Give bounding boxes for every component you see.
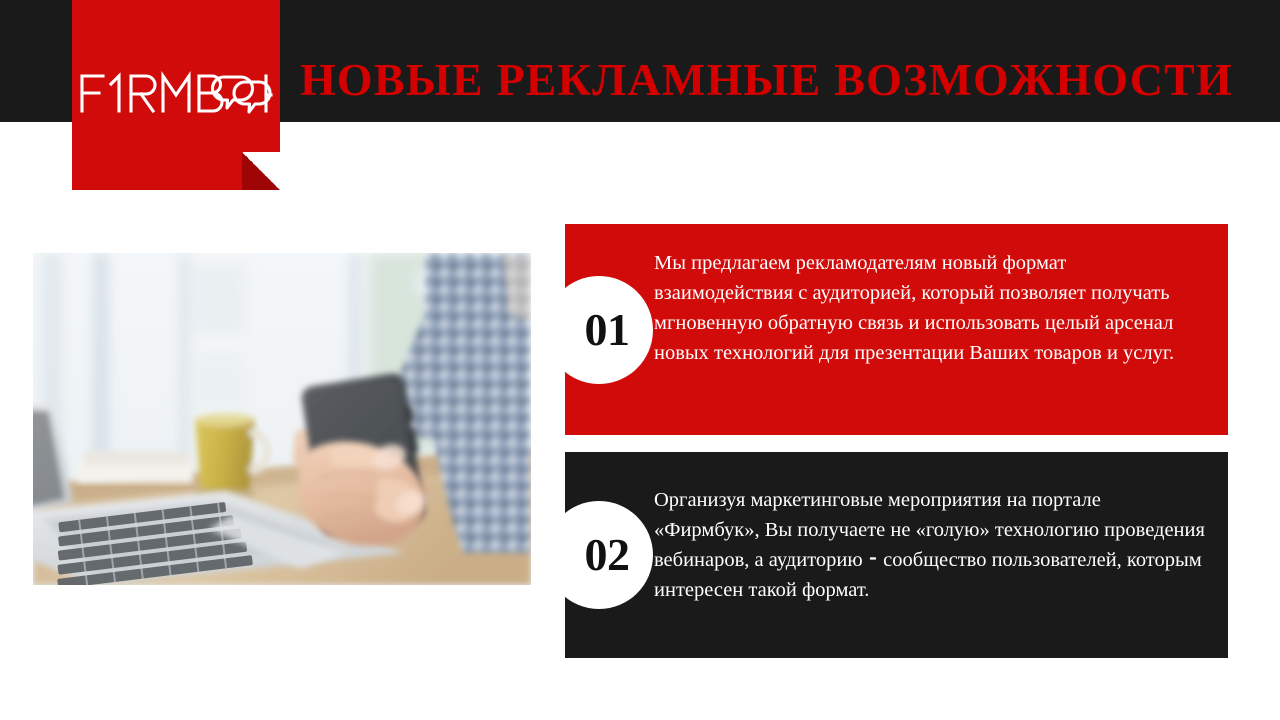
panel-text-02: Организуя маркетинговые мероприятия на п… <box>654 485 1210 605</box>
step-number: 02 <box>585 532 630 578</box>
firmbook-logo-icon <box>72 66 280 118</box>
logo-block[interactable] <box>72 0 280 190</box>
content-panel-02: 02 Организуя маркетинговые мероприятия н… <box>565 452 1228 658</box>
step-badge-01: 01 <box>545 276 653 384</box>
slide-root: НОВЫЕ РЕКЛАМНЫЕ ВОЗМОЖНОСТИ <box>0 0 1280 720</box>
page-title: НОВЫЕ РЕКЛАМНЫЕ ВОЗМОЖНОСТИ <box>300 52 1218 108</box>
desk-laptop-smartphone-photo <box>33 253 531 585</box>
content-panel-01: 01 Мы предлагаем рекламодателям новый фо… <box>565 224 1228 435</box>
step-badge-02: 02 <box>545 501 653 609</box>
logo-corner-fold <box>242 152 280 190</box>
step-number: 01 <box>585 307 630 353</box>
panel-text-01: Мы предлагаем рекламодателям новый форма… <box>654 248 1210 368</box>
